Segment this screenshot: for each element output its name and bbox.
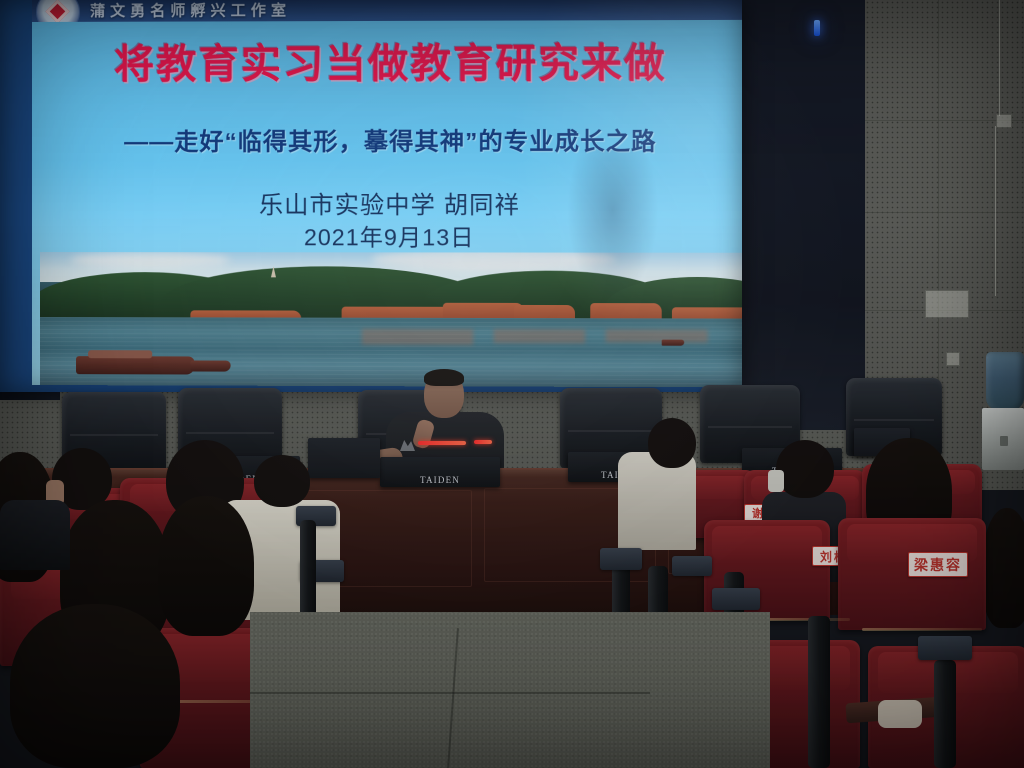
seat-support-post: [934, 660, 956, 768]
wall-outlet-plate-lower: [946, 352, 960, 366]
slide-subtitle: ——走好“临得其形，摹得其神”的专业成长之路: [32, 121, 742, 157]
presenter-hair: [424, 369, 464, 386]
wall-cable: [999, 0, 1000, 116]
photo-tour-boat: [76, 356, 194, 374]
aisle-floor: [250, 612, 770, 768]
audience-member-torso: [0, 500, 70, 570]
audience-bag: [878, 700, 922, 728]
audience-member-head: [254, 455, 310, 507]
projection-screen: 蒲文勇名师孵兴工作室 将教育实习当做教育研究来做 ——走好“临得其形，摹得其神”…: [0, 0, 742, 392]
photo-small-boat: [190, 360, 230, 371]
audience-member-head: [776, 440, 834, 498]
lecture-hall-photo: 蒲文勇名师孵兴工作室 将教育实习当做教育研究来做 ——走好“临得其形，摹得其神”…: [0, 0, 1024, 768]
photo-boat-canopy: [88, 350, 152, 358]
workshop-emblem-icon: [36, 0, 80, 22]
wall-seam: [860, 212, 1024, 213]
presenter-laptop[interactable]: [308, 438, 380, 478]
slide-author: 乐山市实验中学 胡同祥: [32, 185, 742, 220]
audience-member-hair: [10, 604, 180, 768]
audience-member-torso: [618, 452, 696, 550]
slide-banner: 蒲文勇名师孵兴工作室: [32, 0, 742, 22]
microphone-active-led-icon: [474, 440, 492, 444]
audience-member-hair: [982, 508, 1024, 628]
folding-writing-tablet[interactable]: [918, 636, 972, 660]
photo-distant-boat: [662, 340, 684, 346]
wall-cable: [995, 126, 996, 296]
seat-nameplate: 梁惠容: [908, 552, 968, 577]
microphone-active-led-icon: [418, 441, 466, 445]
slide-date: 2021年9月13日: [32, 218, 742, 253]
photo-cloud: [70, 252, 231, 268]
seat-backrest-pad: [712, 526, 823, 560]
photo-cliff-reflection: [606, 329, 708, 342]
water-dispenser-tap-icon[interactable]: [1000, 436, 1008, 446]
conference-microphone-unit[interactable]: TAIDEN: [380, 457, 500, 487]
seat-trim: [862, 628, 982, 631]
audience-member-hair: [158, 496, 254, 636]
folding-writing-tablet[interactable]: [672, 556, 712, 576]
mic-brand-label: TAIDEN: [420, 475, 460, 487]
folding-writing-tablet[interactable]: [712, 588, 760, 610]
folding-writing-tablet[interactable]: [600, 548, 642, 570]
floor-tile-seam: [250, 692, 650, 694]
led-indicator-icon: [814, 20, 820, 36]
seat-trim: [760, 618, 850, 621]
wall-junction-box: [925, 290, 969, 318]
wall-outlet-plate: [996, 114, 1012, 128]
seat-support-post: [808, 616, 830, 768]
audience-member-head: [648, 418, 696, 468]
wall-dark-upper: [735, 0, 865, 430]
audience-face-mask: [768, 470, 784, 492]
slide-scenery-photo: [40, 252, 742, 387]
seat-nameplate-text: 梁惠容: [914, 555, 962, 575]
water-bottle: [986, 352, 1024, 410]
slide-banner-text: 蒲文勇名师孵兴工作室: [90, 0, 291, 21]
photo-cliff-reflection: [362, 329, 473, 345]
slide-title: 将教育实习当做教育研究来做: [32, 30, 742, 90]
photo-cliff-reflection: [494, 329, 586, 343]
presentation-slide: 蒲文勇名师孵兴工作室 将教育实习当做教育研究来做 ——走好“临得其形，摹得其神”…: [32, 0, 742, 387]
